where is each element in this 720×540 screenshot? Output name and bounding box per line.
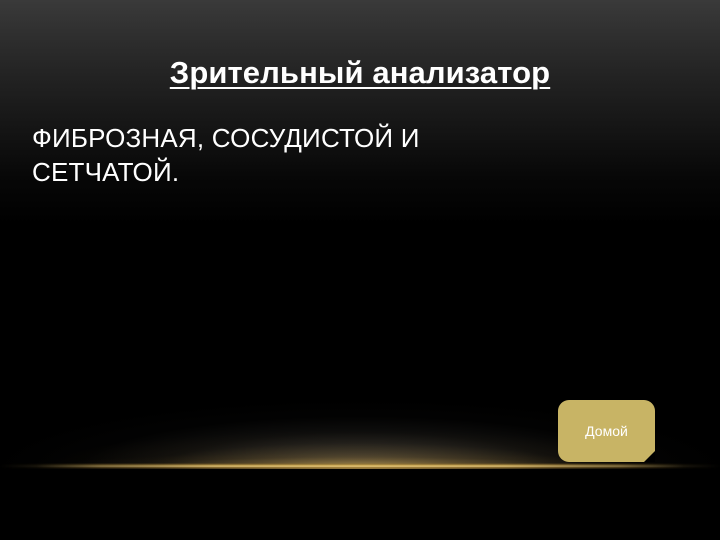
- page-title-text: Зрительный анализатор: [170, 55, 550, 90]
- home-button[interactable]: Домой: [558, 400, 655, 462]
- home-button-label: Домой: [585, 423, 628, 439]
- slide-footer-band: [0, 469, 720, 540]
- page-title: Зрительный анализатор: [0, 54, 720, 93]
- slide-canvas: Зрительный анализатор ФИБРОЗНАЯ, СОСУДИС…: [0, 0, 720, 540]
- slide-body-text: ФИБРОЗНАЯ, СОСУДИСТОЙ И СЕТЧАТОЙ.: [32, 122, 532, 190]
